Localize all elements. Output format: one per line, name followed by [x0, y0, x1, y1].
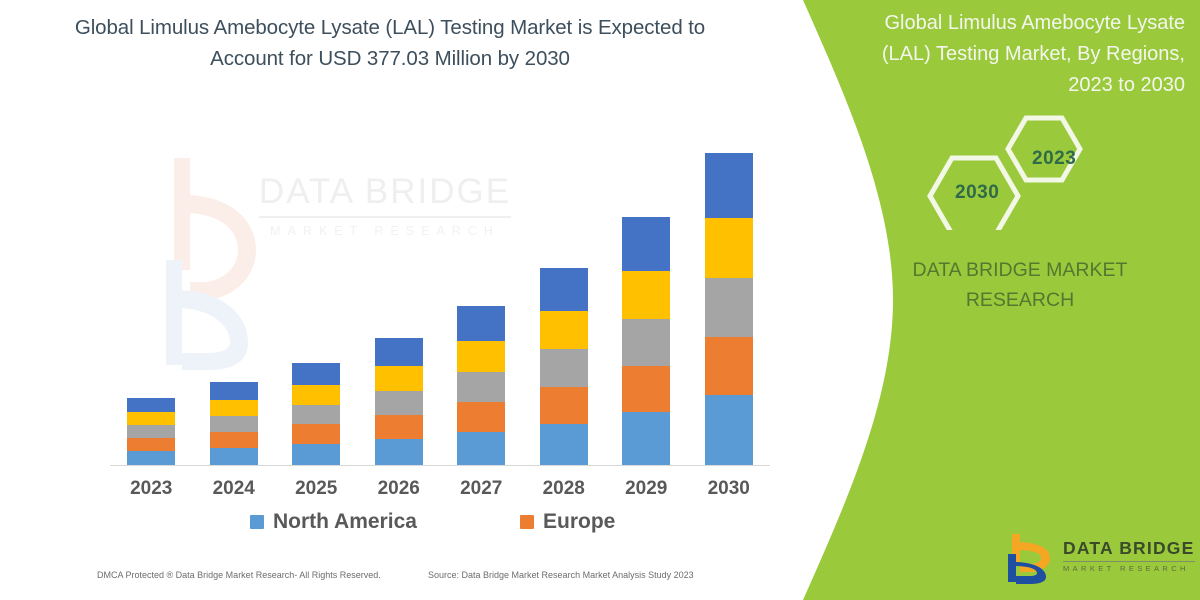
x-axis-tick: 2023 [111, 478, 191, 500]
bar-column [540, 268, 588, 465]
stacked-bar-chart [110, 130, 770, 470]
bar-segment [622, 412, 670, 465]
bar-column [375, 338, 423, 465]
bar-segment [705, 153, 753, 218]
bar-segment [540, 311, 588, 349]
bar-segment [540, 424, 588, 465]
brand-logo-sub-text: MARKET RESEARCH [1063, 564, 1195, 573]
legend-label: Europe [543, 510, 615, 534]
brand-logo-wordmark: DATA BRIDGE MARKET RESEARCH [1063, 538, 1195, 573]
bar-column [210, 382, 258, 465]
bar-segment [375, 366, 423, 391]
x-axis-tick: 2025 [276, 478, 356, 500]
bar-segment [375, 391, 423, 415]
hexagon-2030-label: 2030 [955, 182, 999, 204]
bar-segment [457, 402, 505, 432]
chart-legend: North AmericaEurope [110, 510, 770, 540]
chart-plot-area [110, 130, 770, 465]
footer-source-text: Source: Data Bridge Market Research Mark… [428, 570, 694, 580]
bar-segment [375, 415, 423, 439]
bar-segment [292, 363, 340, 385]
bar-segment [292, 385, 340, 405]
bar-column [457, 306, 505, 465]
brand-logo-divider [1063, 561, 1195, 562]
bar-segment [127, 398, 175, 412]
hexagon-group: 2023 2030 [910, 110, 1140, 230]
infographic-root: Global Limulus Amebocyte Lysate (LAL) Te… [0, 0, 1200, 600]
brand-name: DATA BRIDGE MARKET RESEARCH [860, 255, 1180, 315]
bar-column [622, 217, 670, 465]
page-title: Global Limulus Amebocyte Lysate (LAL) Te… [60, 12, 720, 74]
bar-segment [705, 395, 753, 465]
chart-x-axis [110, 465, 770, 466]
bar-segment [705, 337, 753, 395]
chart-panel: Global Limulus Amebocyte Lysate (LAL) Te… [0, 0, 800, 600]
data-bridge-logo-icon [1005, 532, 1059, 584]
bar-segment [210, 448, 258, 465]
legend-swatch-icon [250, 515, 264, 529]
branding-panel: Global Limulus Amebocyte Lysate (LAL) Te… [800, 0, 1200, 600]
bar-segment [292, 405, 340, 424]
x-axis-tick: 2027 [441, 478, 521, 500]
bar-segment [375, 338, 423, 366]
brand-logo-main-text: DATA BRIDGE [1063, 538, 1195, 559]
x-axis-tick: 2026 [359, 478, 439, 500]
bar-segment [705, 218, 753, 278]
footer-dmca-text: DMCA Protected ® Data Bridge Market Rese… [97, 570, 381, 580]
panel-title: Global Limulus Amebocyte Lysate (LAL) Te… [840, 8, 1185, 101]
footer: DMCA Protected ® Data Bridge Market Rese… [0, 566, 800, 590]
bar-segment [292, 444, 340, 465]
bar-segment [210, 400, 258, 416]
bar-segment [622, 319, 670, 366]
bar-segment [375, 439, 423, 465]
bar-segment [127, 412, 175, 425]
bar-segment [540, 268, 588, 311]
bar-segment [210, 416, 258, 432]
bar-column [127, 398, 175, 465]
bar-segment [457, 372, 505, 402]
bar-segment [457, 432, 505, 465]
x-axis-tick: 2024 [194, 478, 274, 500]
brand-logo: DATA BRIDGE MARKET RESEARCH [1005, 530, 1195, 586]
legend-swatch-icon [520, 515, 534, 529]
bar-segment [705, 278, 753, 337]
x-axis-tick: 2030 [689, 478, 769, 500]
x-axis-tick: 2029 [606, 478, 686, 500]
bar-segment [540, 387, 588, 424]
bar-segment [622, 217, 670, 271]
bar-segment [127, 425, 175, 438]
bar-segment [210, 382, 258, 400]
bar-segment [540, 349, 588, 387]
bar-segment [210, 432, 258, 448]
legend-item[interactable]: Europe [520, 510, 615, 534]
bar-column [292, 363, 340, 465]
bar-segment [457, 341, 505, 372]
bar-segment [127, 438, 175, 451]
bar-segment [127, 451, 175, 465]
legend-item[interactable]: North America [250, 510, 417, 534]
bar-column [705, 153, 753, 465]
bar-segment [622, 271, 670, 319]
x-axis-tick-labels: 20232024202520262027202820292030 [110, 478, 770, 504]
bar-segment [292, 424, 340, 444]
x-axis-tick: 2028 [524, 478, 604, 500]
bar-segment [622, 366, 670, 412]
hexagon-2023-label: 2023 [1032, 148, 1076, 170]
legend-label: North America [273, 510, 417, 534]
bar-segment [457, 306, 505, 341]
